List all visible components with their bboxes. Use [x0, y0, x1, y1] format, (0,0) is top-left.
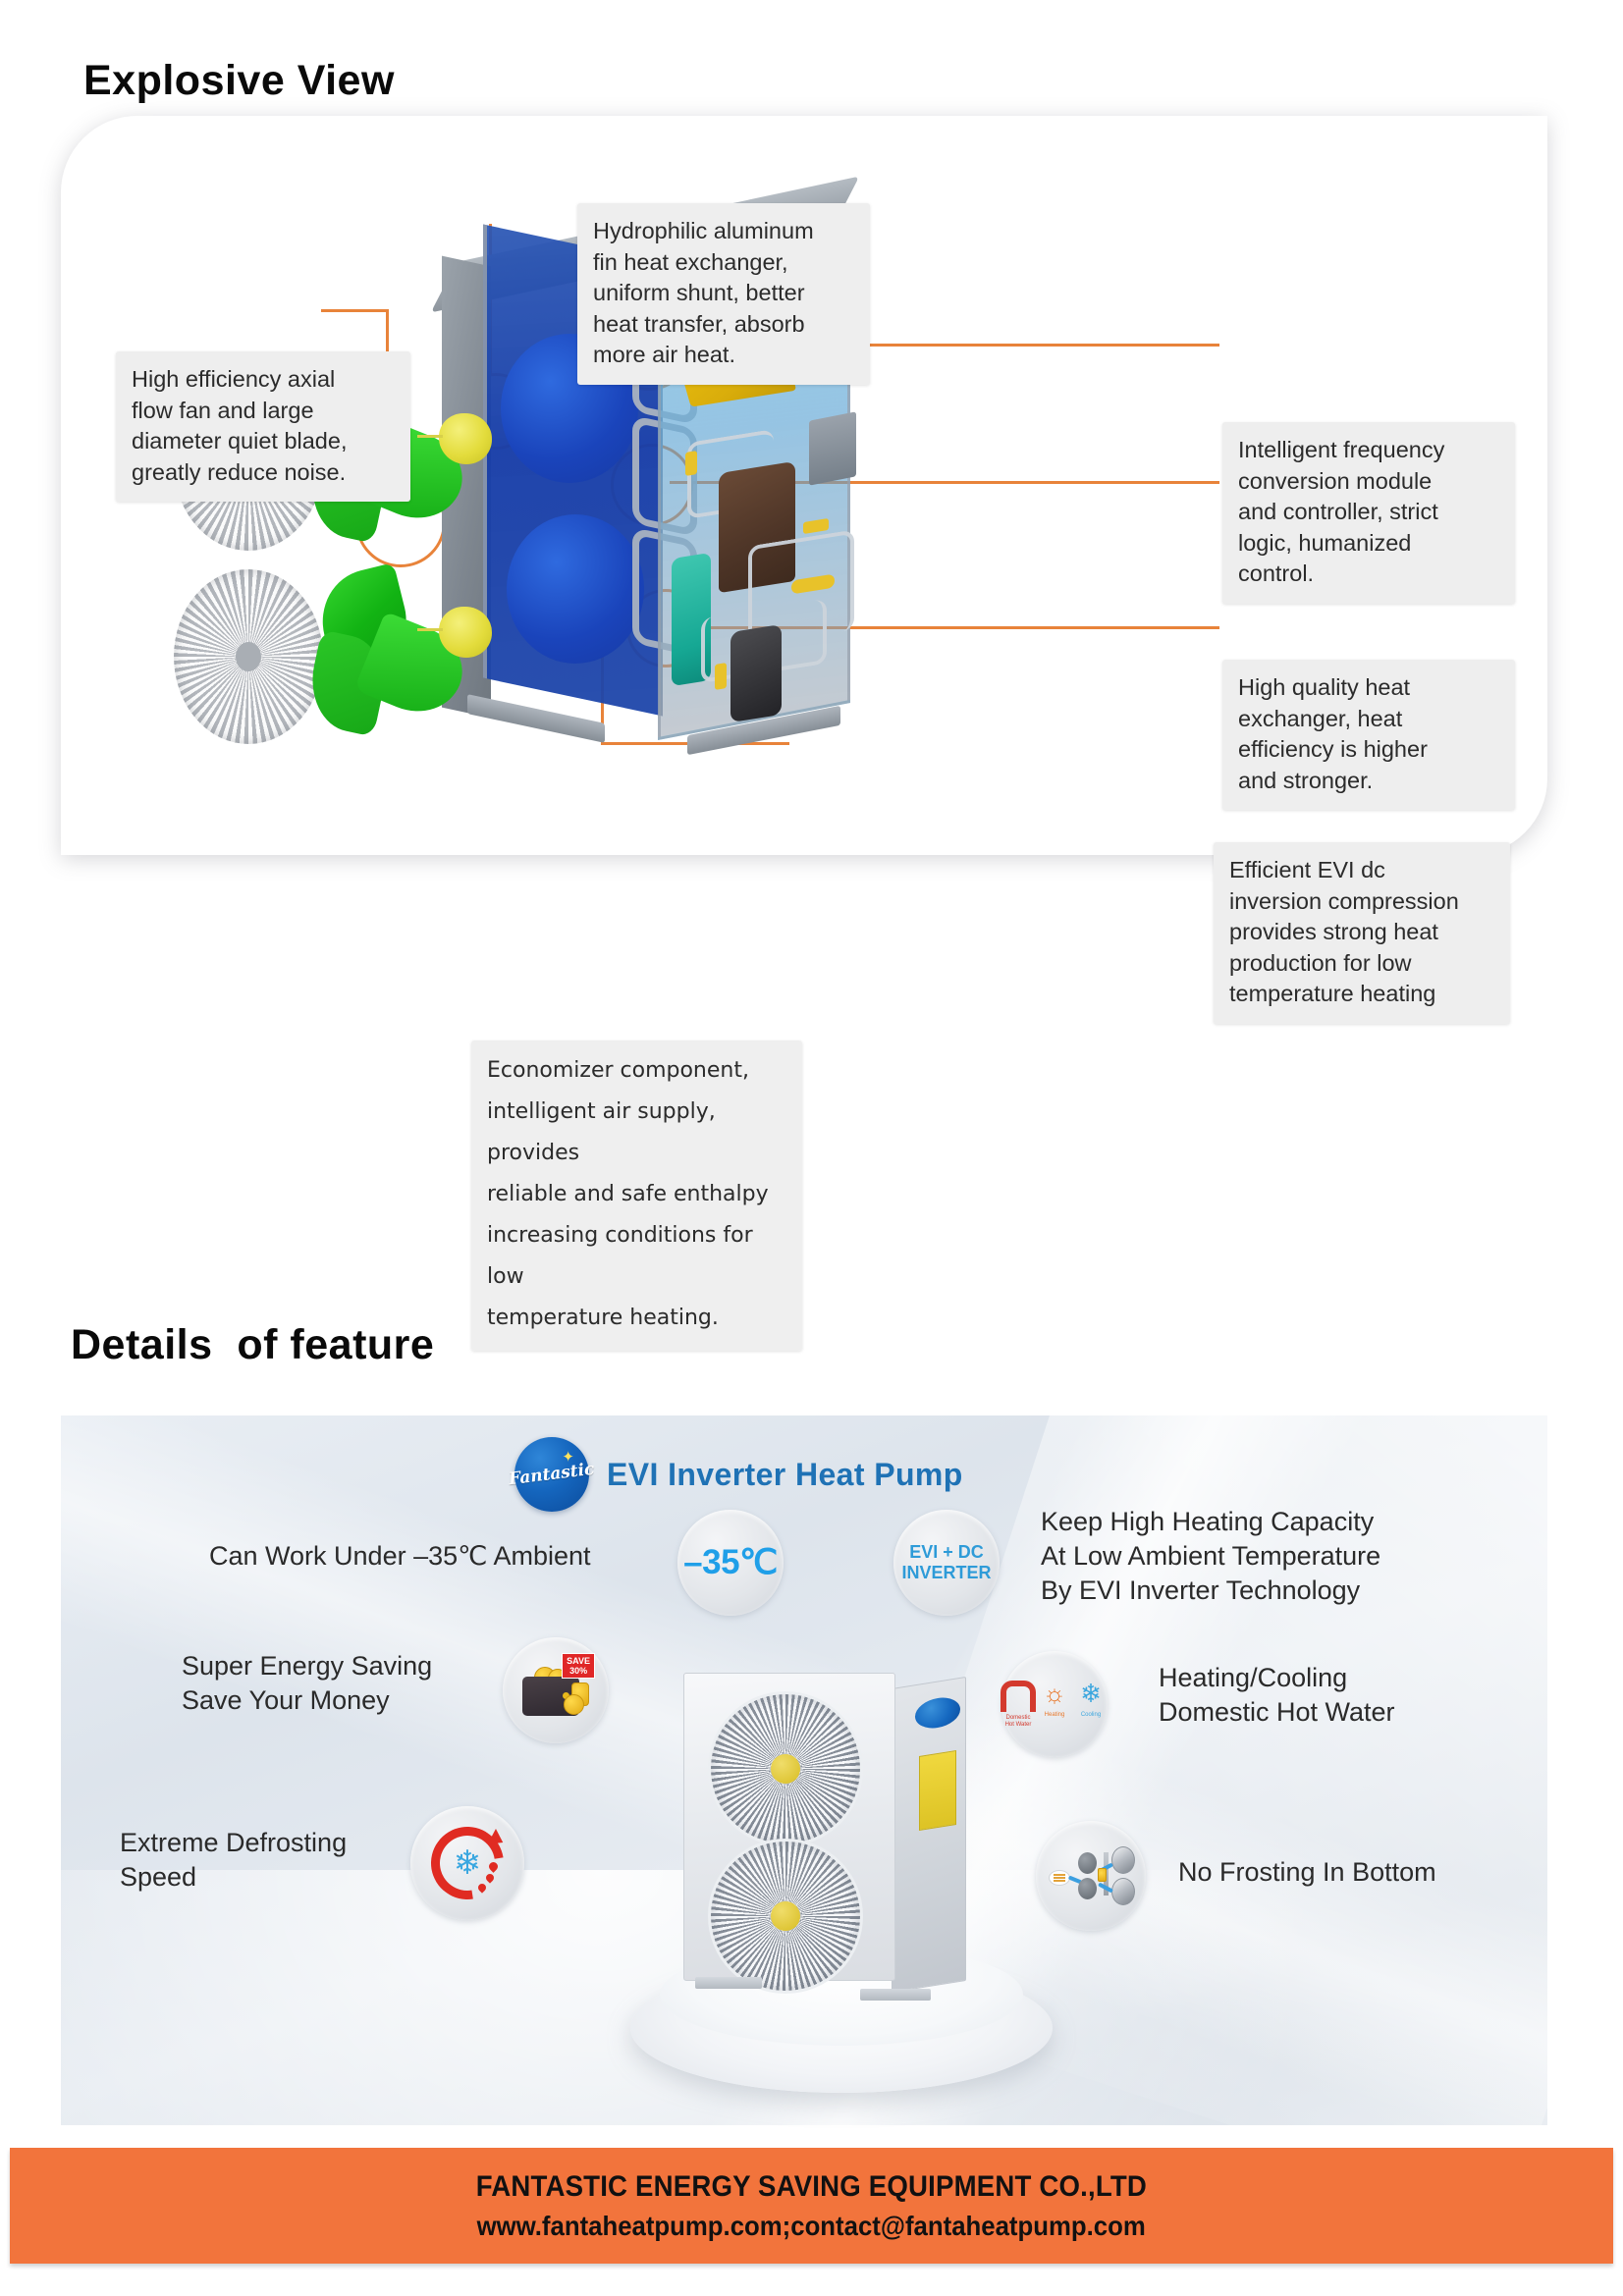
icon-circle-no-frosting [1036, 1821, 1146, 1931]
defrost-snowflake-icon: ❄ [454, 1846, 482, 1880]
callout-axial-flow-fan: High efficiency axial flow fan and large… [116, 351, 410, 502]
controller-display [809, 411, 856, 485]
feature-label-heating-cooling: Heating/Cooling Domestic Hot Water [1159, 1661, 1395, 1730]
leader-line-fan-horizontal [321, 309, 388, 312]
valve-bottom [715, 663, 727, 690]
coil-icon-upper [1078, 1852, 1097, 1874]
icon-circle-operation-modes: Domestic Hot Water ☼ Heating ❄ Cooling [1001, 1651, 1108, 1757]
page-title-details-of-feature: Details of feature [71, 1321, 434, 1369]
icon-circle-defrosting: ❄ [410, 1806, 524, 1920]
badge-circle-temperature: –35℃ [677, 1510, 784, 1616]
mode-label-cooling: Cooling [1081, 1712, 1101, 1719]
callout-heat-exchanger-quality: High quality heat exchanger, heat effici… [1222, 660, 1515, 810]
callout-evi-dc-inversion: Efficient EVI dc inversion compression p… [1214, 842, 1510, 1024]
defrost-cycle-icon: ❄ [431, 1827, 504, 1899]
coil-disc-lower [507, 514, 644, 664]
indicator-icon [1098, 1868, 1107, 1882]
mode-label-heating: Heating [1045, 1712, 1065, 1719]
callout-frequency-conversion: Intelligent frequency conversion module … [1222, 422, 1515, 604]
sparkle-icon: ✦ [562, 1450, 574, 1465]
coin-icon-4 [564, 1694, 584, 1715]
no-frosting-icon [1049, 1844, 1133, 1907]
brand-header: Fantastic ✦ EVI Inverter Heat Pump [514, 1437, 963, 1512]
operation-mode-icons: Domestic Hot Water ☼ Heating ❄ Cooling [1003, 1681, 1106, 1729]
product-foot-left [695, 1977, 762, 1989]
receiver-tank [730, 624, 782, 722]
fantastic-logo-icon: Fantastic ✦ [514, 1437, 589, 1512]
snowflake-icon: ❄ [1080, 1681, 1102, 1706]
feature-label-defrosting: Extreme Defrosting Speed [120, 1826, 347, 1895]
product-foot-right [860, 1989, 931, 2001]
mode-heating: ☼ Heating [1040, 1681, 1069, 1719]
feature-label-ambient: Can Work Under –35℃ Ambient [209, 1539, 591, 1574]
brand-logo-wordmark: Fantastic [508, 1460, 595, 1490]
badge-circle-inverter: EVI + DC INVERTER [893, 1510, 1000, 1616]
inverter-badge-value: EVI + DC INVERTER [901, 1542, 991, 1583]
product-warning-label [919, 1750, 956, 1831]
mode-cooling: ❄ Cooling [1076, 1681, 1106, 1719]
feature-label-no-frosting: No Frosting In Bottom [1178, 1855, 1436, 1890]
coil-icon-lower [1078, 1878, 1097, 1899]
mode-domestic-hot-water: Domestic Hot Water [1003, 1681, 1033, 1729]
axial-fan-assembly-lower [174, 569, 498, 746]
shower-icon [1001, 1681, 1036, 1712]
fan-guard-lower [174, 569, 323, 744]
product-fan-lower [708, 1839, 863, 1994]
product-fan-upper [708, 1691, 863, 1846]
footer-banner: FANTASTIC ENERGY SAVING EQUIPMENT CO.,LT… [10, 2148, 1613, 2264]
fan-icon-upper [1111, 1846, 1135, 1874]
feature-label-keep-capacity: Keep High Heating Capacity At Low Ambien… [1041, 1505, 1380, 1608]
callout-economizer-component: Economizer component, intelligent air su… [471, 1041, 802, 1351]
control-chip-icon [1049, 1870, 1070, 1886]
product-photo [668, 1647, 1001, 2099]
product-front-panel [683, 1673, 895, 1981]
brand-product-title: EVI Inverter Heat Pump [607, 1457, 963, 1493]
wallet-coins-icon: SAVE 30% [520, 1667, 591, 1714]
sun-icon: ☼ [1043, 1681, 1066, 1706]
callout-fin-heat-exchanger: Hydrophilic aluminum fin heat exchanger,… [577, 203, 870, 385]
page-title-explosive-view: Explosive View [83, 57, 395, 105]
fan-motor-upper [439, 413, 492, 464]
fan-icon-lower [1111, 1878, 1135, 1905]
fan-motor-lower [439, 607, 492, 658]
save-percent-tag: SAVE 30% [562, 1653, 595, 1679]
icon-circle-energy-saving: SAVE 30% [503, 1637, 609, 1743]
feature-label-energy-saving: Super Energy Saving Save Your Money [182, 1649, 432, 1718]
mode-label-hot-water: Domestic Hot Water [1005, 1715, 1032, 1729]
temperature-badge-value: –35℃ [683, 1543, 778, 1582]
footer-contact-info[interactable]: www.fantaheatpump.com;contact@fantaheatp… [477, 2211, 1146, 2242]
footer-company-name: FANTASTIC ENERGY SAVING EQUIPMENT CO.,LT… [476, 2170, 1147, 2204]
valve-upper [685, 451, 697, 476]
